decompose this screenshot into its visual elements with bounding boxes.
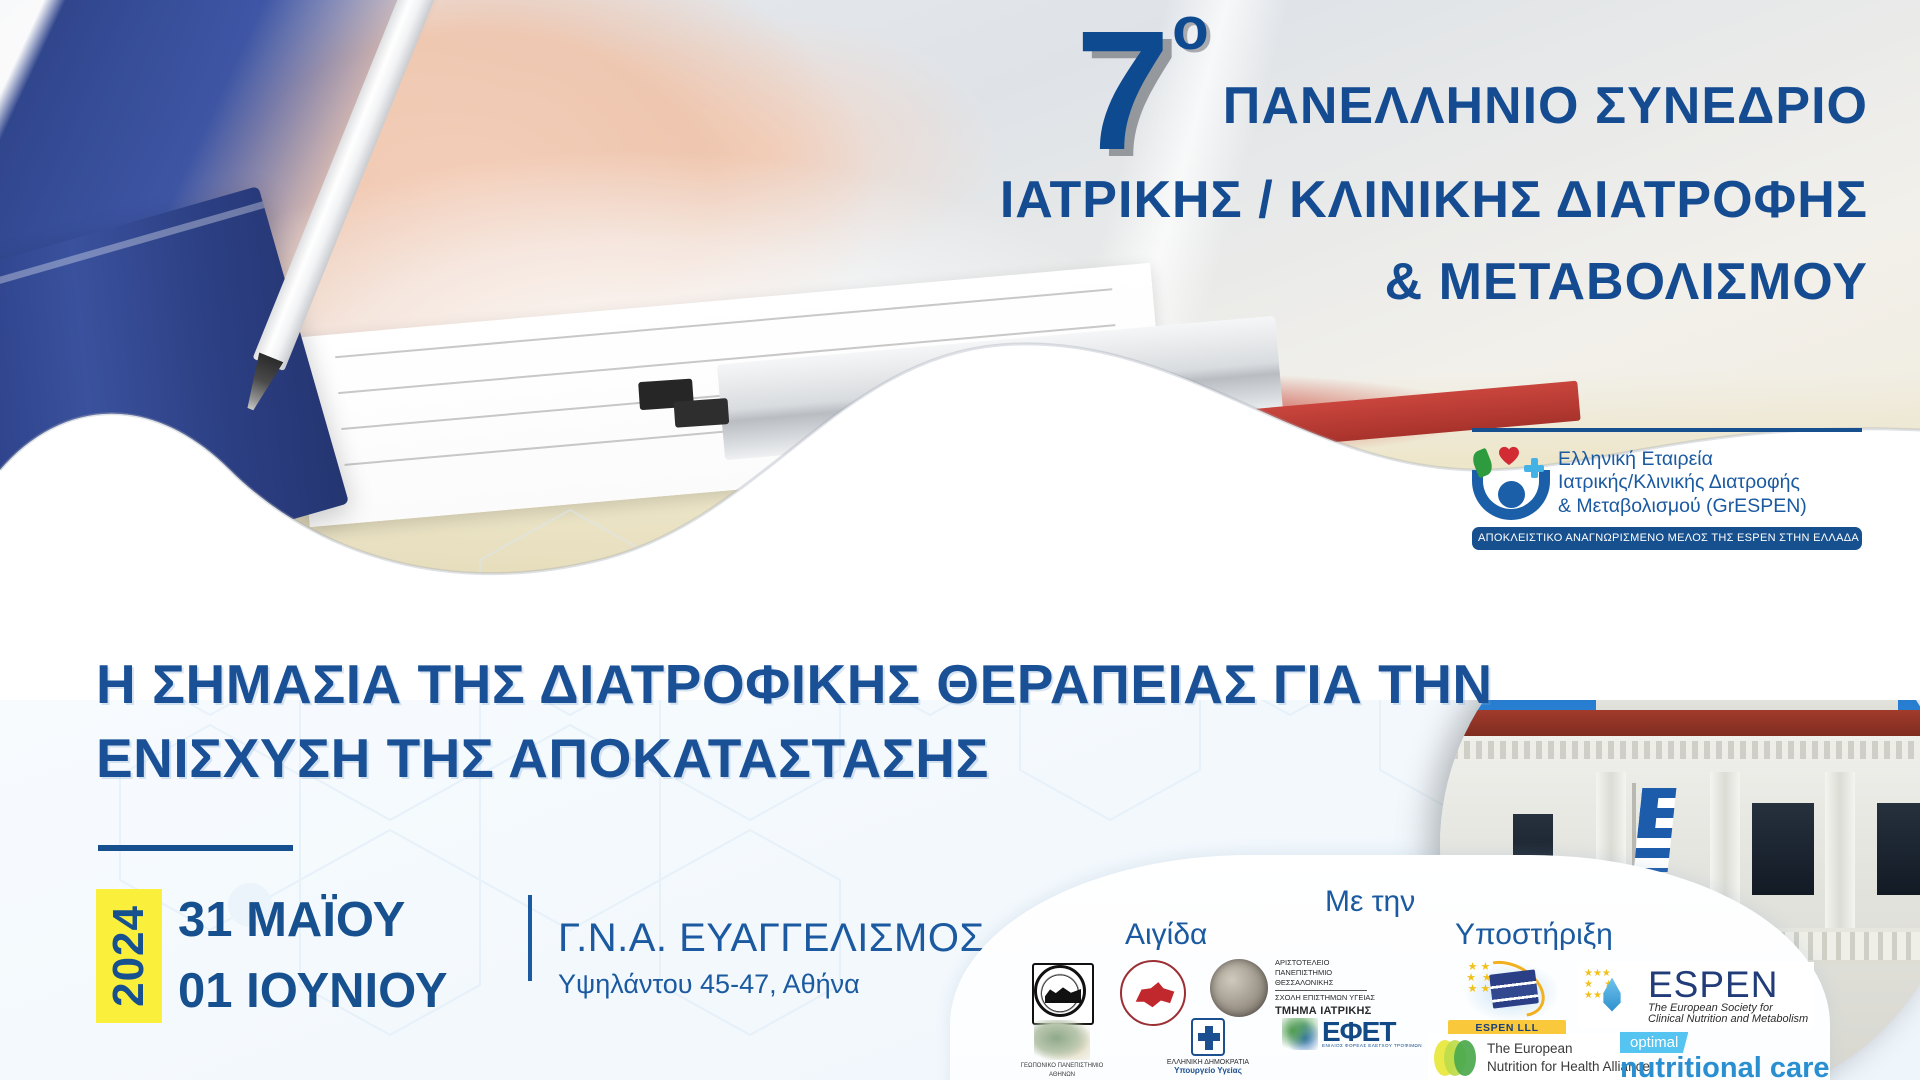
venue-address: Υψηλάντου 45-47, Αθήνα [558,969,985,1000]
conference-theme: Η ΣΗΜΑΣΙΑ ΤΗΣ ΔΙΑΤΡΟΦΙΚΗΣ ΘΕΡΑΠΕΙΑΣ ΓΙΑ … [96,648,1636,795]
theme-divider-rule [98,845,293,851]
espen-drop-icon: ★★★★ ★★★★ [1584,968,1640,1024]
espen-tagline-2: Clinical Nutrition and Metabolism [1648,1014,1808,1025]
grespen-logo-text: Ελληνική Εταιρεία Ιατρικής/Κλινικής Διατ… [1558,448,1807,518]
edition-number: 7 [1076,18,1167,164]
grespen-emblem-icon [1472,446,1550,520]
aua-emblem-icon [1034,1020,1090,1060]
aristotle-coin-icon [1210,959,1268,1017]
efet-subtitle: ΕΝΙΑΙΟΣ ΦΟΡΕΑΣ ΕΛΕΓΧΟΥ ΤΡΟΦΙΜΩΝ [1322,1043,1422,1048]
title-line-3: & ΜΕΤΑΒΟΛΙΣΜΟΥ [808,252,1868,312]
theme-line-2: ΕΝΙΣΧΥΣΗ ΤΗΣ ΑΠΟΚΑΤΑΣΤΑΣΗΣ [96,722,1636,796]
year-badge: 2024 [96,889,162,1023]
date-day-1: 31 ΜΑΪΟΥ [178,885,448,956]
auth-line-5: ΤΜΗΜΑ ΙΑΤΡΙΚΗΣ [1275,1005,1371,1017]
venue-block: Γ.Ν.Α. ΕΥΑΓΓΕΛΙΣΜΟΣ Υψηλάντου 45-47, Αθή… [558,916,985,1000]
venue-name: Γ.Ν.Α. ΕΥΑΓΓΕΛΙΣΜΟΣ [558,916,985,961]
auth-line-3: ΘΕΣΣΑΛΟΝΙΚΗΣ [1275,978,1375,988]
moh-caption-1: ΕΛΛΗΝΙΚΗ ΔΗΜΟΚΡΑΤΙΑ [1148,1059,1268,1066]
year-label: 2024 [104,905,154,1007]
logo-ministry-of-health: ΕΛΛΗΝΙΚΗ ΔΗΜΟΚΡΑΤΙΑ Υπουργείο Υγείας [1148,1018,1268,1075]
onca-line-1: optimal [1620,1032,1688,1053]
espen-lll-emblem-icon: ★ ★★ ★★ ★ [1457,958,1557,1020]
title-line-2: ΙΑΤΡΙΚΗΣ / ΚΛΙΝΙΚΗΣ ΔΙΑΤΡΟΦΗΣ [808,170,1868,230]
logo-university-of-athens [1032,963,1094,1025]
clipboard-clip [638,374,762,440]
onca-line-2: nutritional care [1620,1053,1830,1080]
efet-wordmark: ΕΦΕΤ [1322,1020,1422,1044]
support-label: Υποστήριξη [1455,918,1613,952]
date-lines: 31 ΜΑΪΟΥ 01 ΙΟΥΝΙΟΥ [178,885,448,1027]
logo-espen-lll: ★ ★★ ★★ ★ ESPEN LLL [1448,958,1566,1036]
logo-optimal-nutritional-care: optimal nutritional care for all [1620,1032,1830,1080]
espen-wordmark: ESPEN [1648,966,1808,1003]
title-line-1: ΠΑΝΕΛΛΗΝΙΟ ΣΥΝΕΔΡΙΟ [1223,83,1868,130]
logo-efet: ΕΦΕΤ ΕΝΙΑΙΟΣ ΦΟΡΕΑΣ ΕΛΕΓΧΟΥ ΤΡΟΦΙΜΩΝ [1282,1018,1422,1050]
heart-icon [1498,446,1520,466]
auth-line-2: ΠΑΝΕΠΙΣΤΗΜΙΟ [1275,968,1375,978]
date-day-2: 01 ΙΟΥΝΙΟΥ [178,956,448,1027]
efet-leaf-icon [1282,1018,1318,1050]
logo-espen: ★★★★ ★★★★ ESPEN The European Society for… [1578,962,1814,1029]
aua-caption-gr: ΓΕΩΠΟΝΙΚΟ ΠΑΝΕΠΙΣΤΗΜΙΟ ΑΘΗΝΩΝ [1010,1062,1114,1080]
grespen-line-2: Ιατρικής/Κλινικής Διατροφής [1558,471,1807,494]
medical-cross-icon [1524,458,1544,478]
hellenic-republic-icon [1191,1018,1225,1056]
grespen-line-1: Ελληνική Εταιρεία [1558,448,1807,471]
with-the-label: Με την [1325,885,1415,919]
grespen-society-logo: Ελληνική Εταιρεία Ιατρικής/Κλινικής Διατ… [1472,428,1862,550]
grespen-line-3: & Μεταβολισμού (GrESPEN) [1558,495,1807,518]
conference-title-block: 7 ο ΠΑΝΕΛΛΗΝΙΟ ΣΥΝΕΔΡΙΟ ΙΑΤΡΙΚΗΣ / ΚΛΙΝΙ… [808,18,1868,312]
grespen-membership-ribbon: ΑΠΟΚΛΕΙΣΤΙΚΟ ΑΝΑΓΝΩΡΙΣΜΕΝΟ ΜΕΛΟΣ ΤΗΣ ESP… [1472,527,1862,550]
logo-auth-medical-school: ΑΡΙΣΤΟΤΕΛΕΙΟ ΠΑΝΕΠΙΣΤΗΜΙΟ ΘΕΣΣΑΛΟΝΙΚΗΣ Σ… [1210,958,1375,1018]
edition-ordinal-suffix: ο [1172,2,1209,56]
aegis-label: Αιγίδα [1125,918,1207,952]
auth-line-4: ΣΧΟΛΗ ΕΠΙΣΤΗΜΩΝ ΥΓΕΙΑΣ [1275,993,1375,1003]
hospital-sign-text: ΕΥΑΓΓΕΛΙΣΜΟΣ [1620,674,1753,689]
title-ordinal-row: 7 ο ΠΑΝΕΛΛΗΝΙΟ ΣΥΝΕΔΡΙΟ [808,18,1868,164]
enha-leaves-icon [1434,1038,1480,1078]
theme-line-1: Η ΣΗΜΑΣΙΑ ΤΗΣ ΔΙΑΤΡΟΦΙΚΗΣ ΘΕΡΑΠΕΙΑΣ ΓΙΑ … [96,648,1636,722]
conference-banner: ΕΥΑΓΓΕΛΙΣΜΟΣ 7 ο ΠΑΝΕΛΛΗΝΙΟ ΣΥΝΕΔΡΙΟ ΙΑΤ… [0,0,1920,1080]
event-dates-block: 2024 31 ΜΑΪΟΥ 01 ΙΟΥΝΙΟΥ [96,885,448,1027]
auth-line-1: ΑΡΙΣΤΟΤΕΛΕΙΟ [1275,958,1375,968]
logo-divider-rule [1472,428,1862,432]
logo-university-of-thessaly [1120,960,1186,1026]
date-venue-separator [528,895,532,981]
logo-agricultural-university-athens: ΓΕΩΠΟΝΙΚΟ ΠΑΝΕΠΙΣΤΗΜΙΟ ΑΘΗΝΩΝ AGRICULTUR… [1010,1020,1114,1080]
moh-caption-2: Υπουργείο Υγείας [1148,1066,1268,1075]
